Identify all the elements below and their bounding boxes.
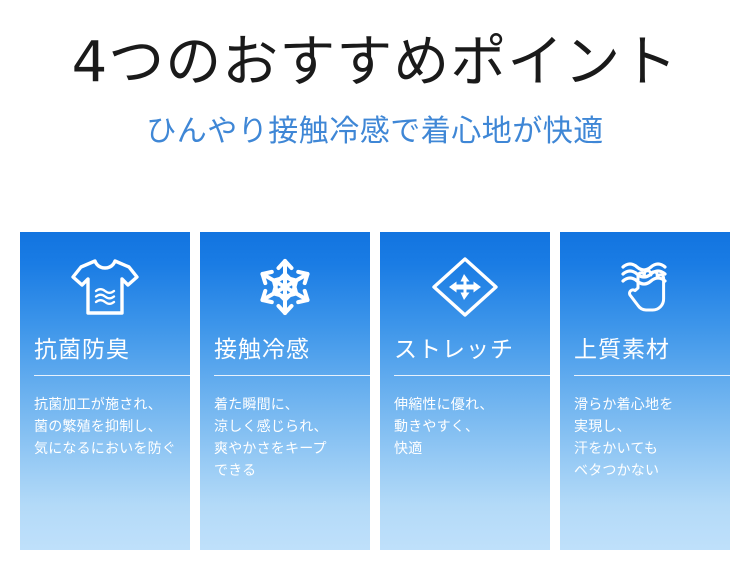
- snowflake-icon: [214, 232, 356, 337]
- body-line: 快適: [394, 438, 536, 460]
- body-line: 爽やかさをキープ: [214, 438, 356, 460]
- feature-card-title: 接触冷感: [214, 337, 356, 365]
- feature-infographic: 4つのおすすめポイント ひんやり接触冷感で着心地が快適 抗菌防臭 抗菌加工が施さ…: [0, 0, 750, 580]
- page-title: 4つのおすすめポイント: [0, 34, 750, 93]
- tshirt-waves-icon: [34, 232, 176, 337]
- body-line: 着た瞬間に、: [214, 394, 356, 416]
- feature-card-title: ストレッチ: [394, 337, 536, 365]
- body-line: 滑らか着心地を: [574, 394, 716, 416]
- feature-card-title: 抗菌防臭: [34, 337, 176, 365]
- page-subtitle: ひんやり接触冷感で着心地が快適: [0, 115, 750, 148]
- card-divider: [394, 375, 550, 376]
- hand-fabric-waves-icon: [574, 232, 716, 337]
- body-line: 涼しく感じられ、: [214, 416, 356, 438]
- header: 4つのおすすめポイント ひんやり接触冷感で着心地が快適: [0, 0, 750, 148]
- card-divider: [214, 375, 370, 376]
- body-line: ベタつかない: [574, 460, 716, 482]
- body-line: 実現し、: [574, 416, 716, 438]
- feature-card-body: 着た瞬間に、 涼しく感じられ、 爽やかさをキープ できる: [214, 394, 356, 482]
- body-line: 菌の繁殖を抑制し、: [34, 416, 176, 438]
- body-line: 汗をかいても: [574, 438, 716, 460]
- card-divider: [574, 375, 730, 376]
- feature-card-body: 滑らか着心地を 実現し、 汗をかいても ベタつかない: [574, 394, 716, 482]
- four-arrows-diamond-icon: [394, 232, 536, 337]
- body-line: 伸縮性に優れ、: [394, 394, 536, 416]
- body-line: 抗菌加工が施され、: [34, 394, 176, 416]
- feature-card-list: 抗菌防臭 抗菌加工が施され、 菌の繁殖を抑制し、 気になるにおいを防ぐ: [20, 232, 730, 550]
- body-line: 動きやすく、: [394, 416, 536, 438]
- feature-card-body: 伸縮性に優れ、 動きやすく、 快適: [394, 394, 536, 460]
- feature-card-material: 上質素材 滑らか着心地を 実現し、 汗をかいても ベタつかない: [560, 232, 730, 550]
- card-divider: [34, 375, 190, 376]
- body-line: できる: [214, 460, 356, 482]
- feature-card-body: 抗菌加工が施され、 菌の繁殖を抑制し、 気になるにおいを防ぐ: [34, 394, 176, 460]
- feature-card-title: 上質素材: [574, 337, 716, 365]
- feature-card-antibacterial: 抗菌防臭 抗菌加工が施され、 菌の繁殖を抑制し、 気になるにおいを防ぐ: [20, 232, 190, 550]
- feature-card-stretch: ストレッチ 伸縮性に優れ、 動きやすく、 快適: [380, 232, 550, 550]
- feature-card-cooling: 接触冷感 着た瞬間に、 涼しく感じられ、 爽やかさをキープ できる: [200, 232, 370, 550]
- body-line: 気になるにおいを防ぐ: [34, 438, 176, 460]
